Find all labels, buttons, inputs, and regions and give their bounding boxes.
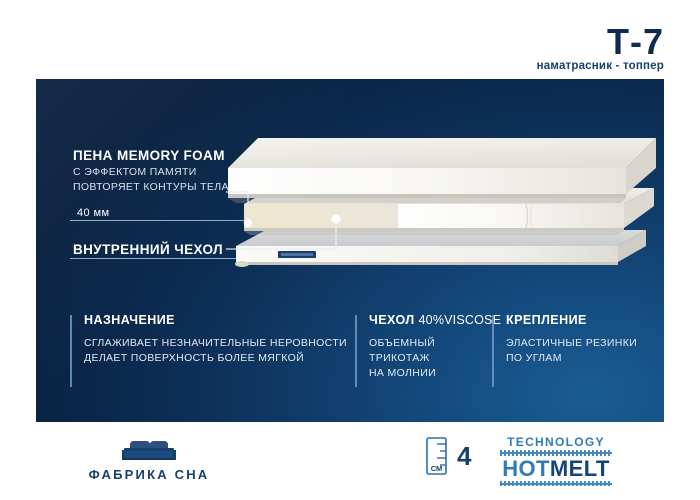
layer-thickness-value: 40 мм <box>77 207 109 219</box>
feature-purpose: НАЗНАЧЕНИЕ СГЛАЖИВАЕТ НЕЗНАЧИТЕЛЬНЫЕ НЕР… <box>70 313 355 391</box>
bed-icon <box>116 436 182 464</box>
feature-line-1: ЭЛАСТИЧНЫЕ РЕЗИНКИ <box>506 336 642 351</box>
feature-columns: НАЗНАЧЕНИЕ СГЛАЖИВАЕТ НЕЗНАЧИТЕЛЬНЫЕ НЕР… <box>70 313 642 391</box>
feature-line-1: СГЛАЖИВАЕТ НЕЗНАЧИТЕЛЬНЫЕ НЕРОВНОСТИ <box>84 336 355 351</box>
layer-sub-line-2: ПОВТОРЯЕТ КОНТУРЫ ТЕЛА <box>73 181 229 194</box>
layer-label-memory-foam: ПЕНА MEMORY FOAM С ЭФФЕКТОМ ПАМЯТИ ПОВТО… <box>73 148 229 194</box>
hotmelt-wordmark: HOTMELT <box>500 457 612 480</box>
hotmelt-hot: HOT <box>502 456 550 481</box>
product-subtitle: наматрасник - топпер <box>537 60 664 72</box>
callout-dot-foam <box>244 219 252 227</box>
thickness-number: 4 <box>457 443 471 469</box>
page-footer: ФАБРИКА СНА СМ 4 TECHNOLOGY HOTMELT <box>0 422 700 500</box>
feature-line-1: ОБЪЕМНЫЙ ТРИКОТАЖ <box>369 336 492 366</box>
feature-line-2: ДЕЛАЕТ ПОВЕРХНОСТЬ БОЛЕЕ МЯГКОЙ <box>84 351 355 366</box>
feature-line-2: ПО УГЛАМ <box>506 351 642 366</box>
layer-memory-foam <box>228 138 656 203</box>
thickness-badge: СМ 4 <box>424 437 471 475</box>
page-header: Т-7 наматрасник - топпер <box>0 0 700 79</box>
product-title: Т-7 <box>607 24 664 60</box>
feature-heading-regular: 40%VISCOSE <box>419 313 502 327</box>
feature-heading: ЧЕХОЛ 40%VISCOSE <box>369 313 492 327</box>
ruler-icon: СМ <box>424 437 450 475</box>
feature-heading-bold: КРЕПЛЕНИЕ <box>506 313 587 327</box>
feature-heading: НАЗНАЧЕНИЕ <box>84 313 355 327</box>
hotmelt-band-top <box>500 450 612 456</box>
main-panel: ПЕНА MEMORY FOAM С ЭФФЕКТОМ ПАМЯТИ ПОВТО… <box>36 79 664 422</box>
mattress-topper-illustration <box>226 134 656 294</box>
feature-cover: ЧЕХОЛ 40%VISCOSE ОБЪЕМНЫЙ ТРИКОТАЖ НА МО… <box>355 313 492 391</box>
hotmelt-logo: TECHNOLOGY HOTMELT <box>500 436 612 486</box>
feature-heading-bold: НАЗНАЧЕНИЕ <box>84 313 175 327</box>
feature-line-2: НА МОЛНИИ <box>369 366 492 381</box>
brand-logo: ФАБРИКА СНА <box>74 436 224 482</box>
ruler-unit-label: СМ <box>431 464 443 473</box>
hotmelt-band-bottom <box>500 481 612 486</box>
brand-name: ФАБРИКА СНА <box>74 467 224 482</box>
technology-word: TECHNOLOGY <box>500 436 612 449</box>
layer-label-inner-cover: ВНУТРЕННИЙ ЧЕХОЛ <box>73 242 223 257</box>
feature-fastening: КРЕПЛЕНИЕ ЭЛАСТИЧНЫЕ РЕЗИНКИ ПО УГЛАМ <box>492 313 642 391</box>
layer-sub-line-1: С ЭФФЕКТОМ ПАМЯТИ <box>73 166 229 179</box>
feature-heading-bold: ЧЕХОЛ <box>369 313 415 327</box>
hotmelt-melt: MELT <box>550 456 610 481</box>
feature-heading: КРЕПЛЕНИЕ <box>506 313 642 327</box>
layer-heading: ПЕНА MEMORY FOAM <box>73 148 229 164</box>
callout-dot-cover <box>331 214 340 223</box>
